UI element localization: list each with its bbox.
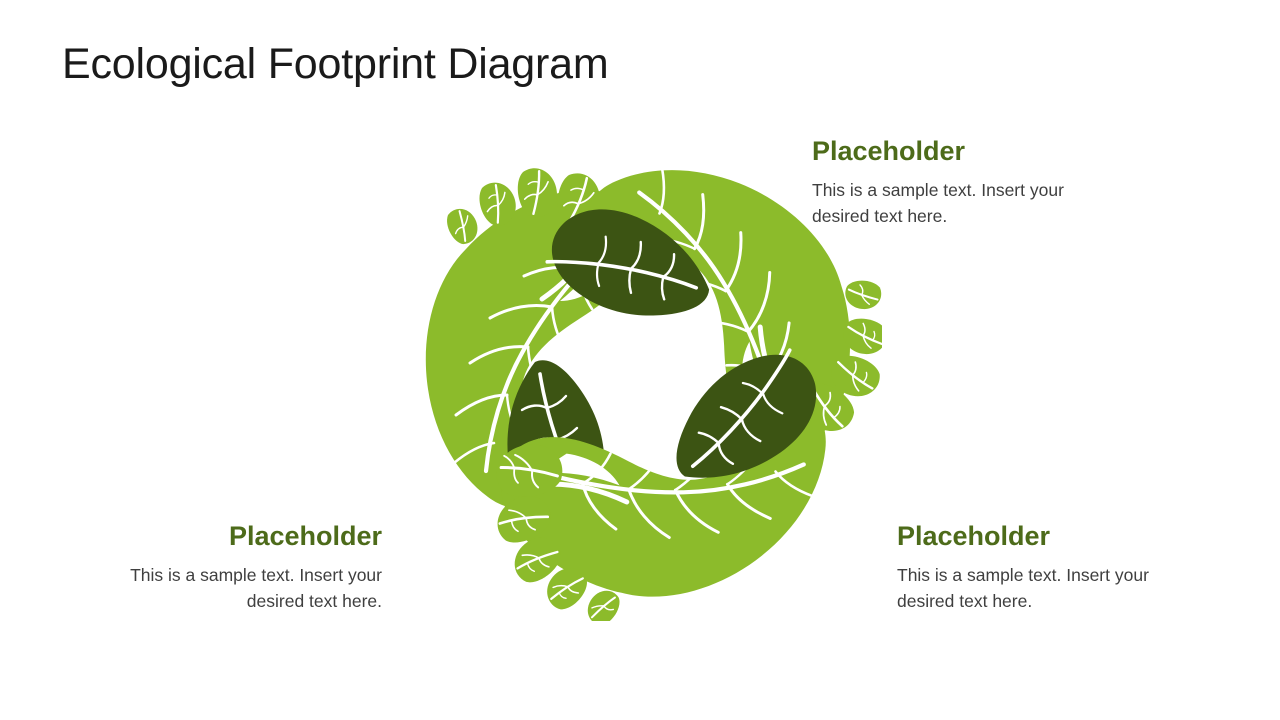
slide-canvas: Ecological Footprint Diagram [0, 0, 1280, 720]
callout-title: Placeholder [812, 137, 1082, 167]
callout-body: This is a sample text. Insert your desir… [110, 563, 382, 615]
callout-bottom-right[interactable]: Placeholder This is a sample text. Inser… [897, 522, 1167, 614]
callout-body: This is a sample text. Insert your desir… [897, 563, 1167, 615]
callout-title: Placeholder [897, 522, 1167, 552]
callout-bottom-left[interactable]: Placeholder This is a sample text. Inser… [110, 522, 382, 614]
callout-top-right[interactable]: Placeholder This is a sample text. Inser… [812, 137, 1082, 229]
callout-body: This is a sample text. Insert your desir… [812, 178, 1082, 230]
callout-title: Placeholder [110, 522, 382, 552]
ecological-footprint-graphic[interactable] [404, 131, 882, 621]
page-title: Ecological Footprint Diagram [62, 40, 608, 89]
